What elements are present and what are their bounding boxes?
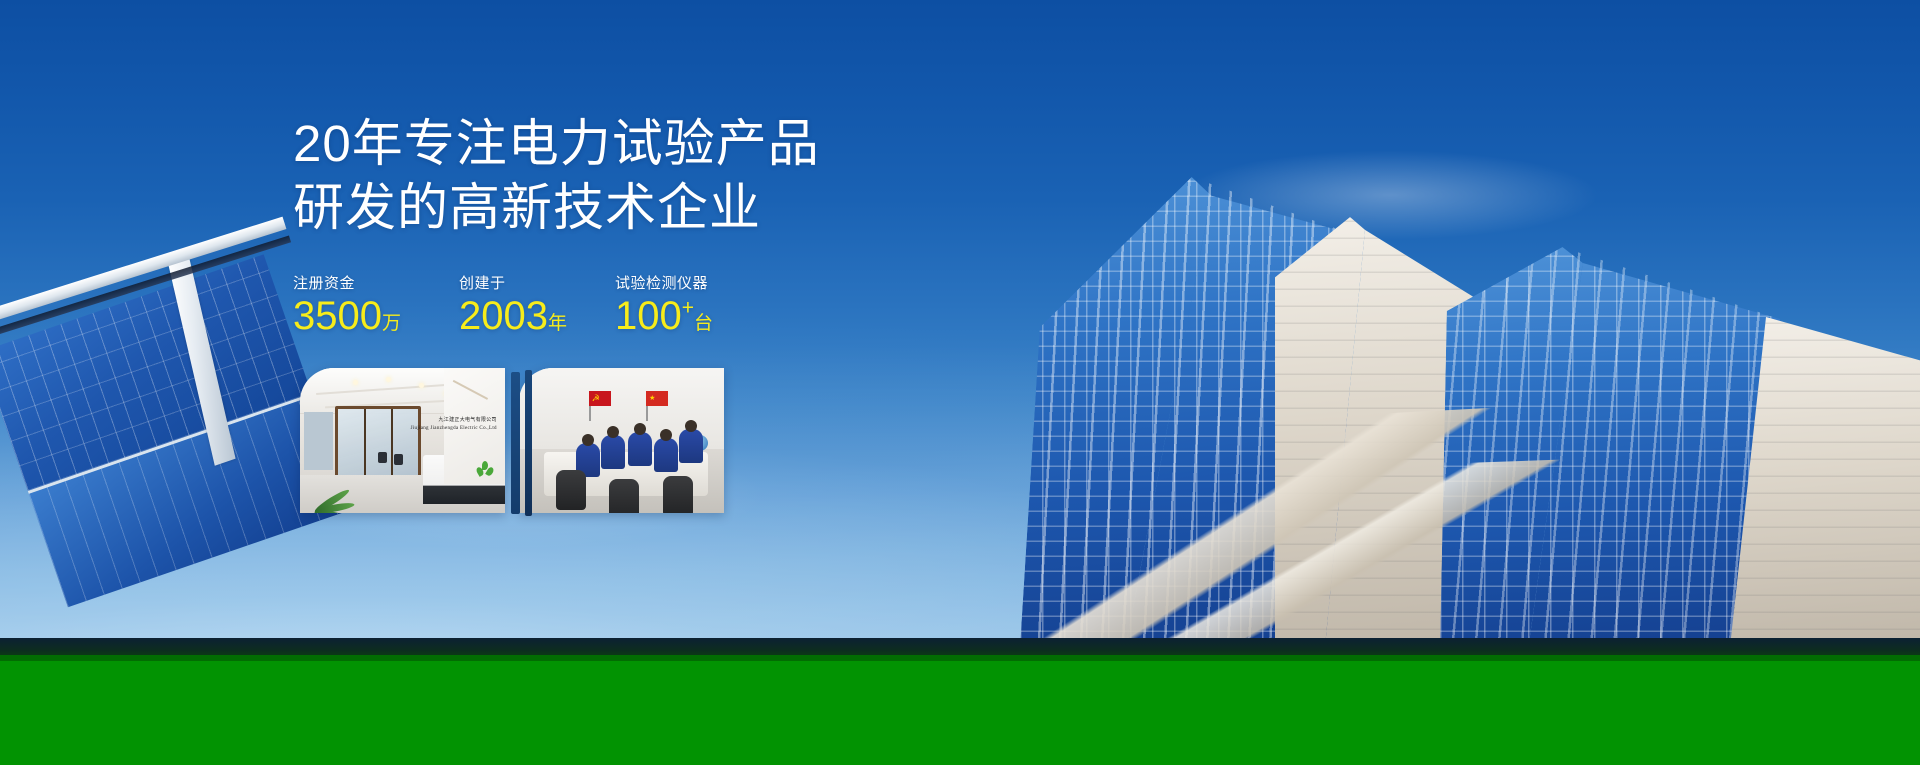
seated-person: [654, 438, 678, 472]
stat-value: 2003年: [459, 296, 615, 336]
headline-block: 20年专注电力试验产品 研发的高新技术企业: [293, 112, 993, 241]
meeting-chair: [663, 476, 693, 513]
stat-registered-capital: 注册资金 3500万: [293, 272, 459, 336]
national-flag-icon: [646, 391, 668, 406]
stat-label: 试验检测仪器: [615, 272, 713, 293]
headline-line-1: 20年专注电力试验产品: [293, 112, 993, 176]
stat-test-instruments: 试验检测仪器 100+台: [615, 272, 713, 336]
meeting-chair: [609, 479, 639, 513]
stat-number: 100: [615, 294, 682, 338]
meeting-room-photo[interactable]: [519, 368, 724, 513]
green-footer-band: [0, 655, 1920, 765]
stat-superscript: +: [682, 297, 694, 320]
ceiling-spotlight: [419, 383, 424, 388]
stat-label: 注册资金: [293, 272, 459, 293]
meeting-room-scene: [519, 368, 724, 513]
stat-unit: 年: [548, 313, 567, 334]
seated-person: [679, 429, 703, 463]
dark-separator-strip: [0, 638, 1920, 656]
stat-value: 100+台: [615, 296, 713, 336]
lobby-scene: 九江建正大电气有限公司 Jiujiang Jianzhengda Electri…: [300, 368, 505, 513]
company-sign-line-2: Jiujiang Jianzhengda Electric Co.,Ltd: [411, 425, 497, 433]
thumbnail-divider-fin: [525, 370, 532, 516]
ceiling-spotlight: [386, 377, 391, 382]
company-logo-icon: [477, 461, 493, 481]
company-sign-text: 九江建正大电气有限公司 Jiujiang Jianzhengda Electri…: [411, 417, 497, 432]
office-reception-photo[interactable]: 九江建正大电气有限公司 Jiujiang Jianzhengda Electri…: [300, 368, 505, 513]
door-mullion: [391, 409, 393, 478]
stat-founded-year: 创建于 2003年: [459, 272, 615, 336]
meeting-chair: [556, 470, 586, 510]
stat-number: 2003: [459, 294, 548, 338]
stat-unit: 台: [694, 313, 713, 334]
hero-banner: 20年专注电力试验产品 研发的高新技术企业 注册资金 3500万 创建于 200…: [0, 0, 1920, 765]
page-title: 20年专注电力试验产品 研发的高新技术企业: [293, 112, 993, 241]
stat-label: 创建于: [459, 272, 615, 293]
stats-row: 注册资金 3500万 创建于 2003年 试验检测仪器 100+台: [293, 272, 713, 336]
stat-unit: 万: [382, 313, 401, 334]
office-chair: [394, 454, 403, 465]
ceiling-spotlight: [353, 380, 358, 385]
thumbnail-divider-fin: [511, 372, 520, 514]
stat-value: 3500万: [293, 296, 459, 336]
stat-number: 3500: [293, 294, 382, 338]
party-flag-icon: [589, 391, 611, 406]
seated-person: [601, 435, 625, 469]
seated-person: [628, 432, 652, 466]
company-sign-line-1: 九江建正大电气有限公司: [411, 417, 497, 425]
headline-line-2: 研发的高新技术企业: [293, 176, 993, 240]
palm-plant: [300, 452, 388, 513]
green-band-top-edge: [0, 655, 1920, 661]
